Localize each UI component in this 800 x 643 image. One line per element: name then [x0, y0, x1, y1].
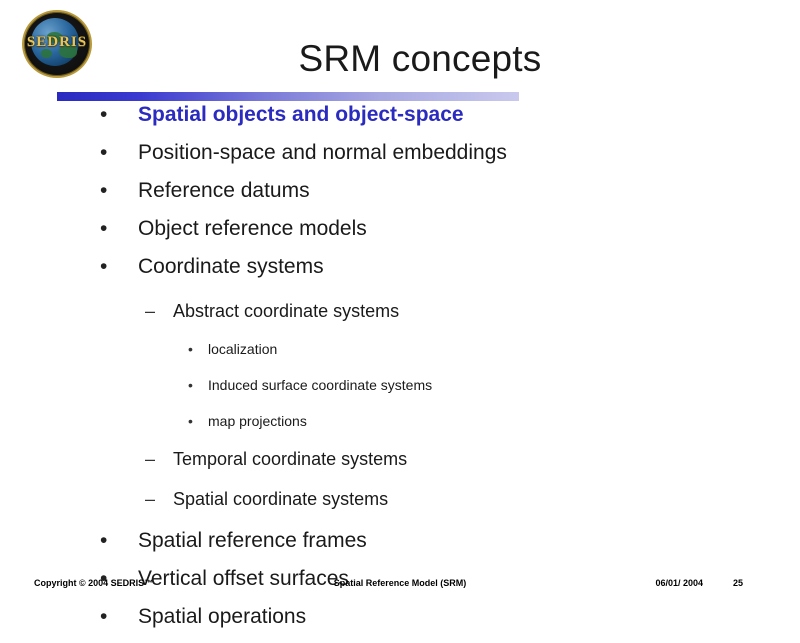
- bullet-item: • Reference datums: [0, 179, 800, 217]
- bullet-marker: –: [145, 489, 173, 510]
- spacer: [0, 481, 800, 489]
- bullet-text: Coordinate systems: [138, 255, 800, 279]
- bullet-item: • Spatial objects and object-space: [0, 103, 800, 141]
- bullet-marker: •: [100, 256, 138, 277]
- bullet-marker: •: [100, 606, 138, 627]
- bullet-text: Object reference models: [138, 217, 800, 241]
- bullet-marker: •: [188, 413, 208, 429]
- footer-date: 06/01/ 2004: [655, 578, 703, 588]
- title-divider: [57, 92, 519, 101]
- bullet-item: • Spatial reference frames: [0, 529, 800, 567]
- bullet-text: Reference datums: [138, 179, 800, 203]
- bullet-marker: –: [145, 449, 173, 470]
- bullet-text: localization: [208, 341, 800, 357]
- footer-page-number: 25: [733, 578, 743, 588]
- bullet-text: Spatial operations: [138, 605, 800, 629]
- bullet-item: – Spatial coordinate systems: [0, 489, 800, 521]
- logo-wordmark: SEDRIS: [24, 34, 90, 51]
- bullet-item: • Coordinate systems: [0, 255, 800, 293]
- sedris-logo: SEDRIS: [22, 10, 88, 74]
- bullet-item: • Spatial operations: [0, 605, 800, 643]
- bullet-text: Position-space and normal embeddings: [138, 141, 800, 165]
- bullet-marker: •: [100, 142, 138, 163]
- slide-footer: Copyright © 2004 SEDRIS™ Spatial Referen…: [0, 568, 800, 600]
- bullet-text: Spatial coordinate systems: [173, 489, 800, 510]
- bullet-item: • Position-space and normal embeddings: [0, 141, 800, 179]
- spacer: [0, 293, 800, 301]
- bullet-marker: •: [188, 377, 208, 393]
- bullet-marker: •: [188, 341, 208, 357]
- bullet-marker: •: [100, 180, 138, 201]
- page-title: SRM concepts: [120, 38, 720, 80]
- slide: SEDRIS SRM concepts • Spatial objects an…: [0, 0, 800, 600]
- bullet-marker: –: [145, 301, 173, 322]
- bullet-text: map projections: [208, 413, 800, 429]
- spacer: [0, 405, 800, 413]
- spacer: [0, 521, 800, 529]
- bullet-marker: •: [100, 104, 138, 125]
- bullet-text: Abstract coordinate systems: [173, 301, 800, 322]
- bullet-text: Temporal coordinate systems: [173, 449, 800, 470]
- bullet-marker: •: [100, 218, 138, 239]
- bullet-item: • localization: [0, 341, 800, 369]
- bullet-item: – Abstract coordinate systems: [0, 301, 800, 333]
- spacer: [0, 369, 800, 377]
- bullet-item: – Temporal coordinate systems: [0, 449, 800, 481]
- spacer: [0, 441, 800, 449]
- bullet-text: Spatial reference frames: [138, 529, 800, 553]
- bullet-list: • Spatial objects and object-space • Pos…: [0, 103, 800, 643]
- logo-ring: SEDRIS: [22, 10, 92, 78]
- bullet-text: Induced surface coordinate systems: [208, 377, 800, 393]
- bullet-item: • Induced surface coordinate systems: [0, 377, 800, 405]
- bullet-marker: •: [100, 530, 138, 551]
- bullet-item: • Object reference models: [0, 217, 800, 255]
- bullet-text: Spatial objects and object-space: [138, 103, 800, 127]
- spacer: [0, 333, 800, 341]
- bullet-item: • map projections: [0, 413, 800, 441]
